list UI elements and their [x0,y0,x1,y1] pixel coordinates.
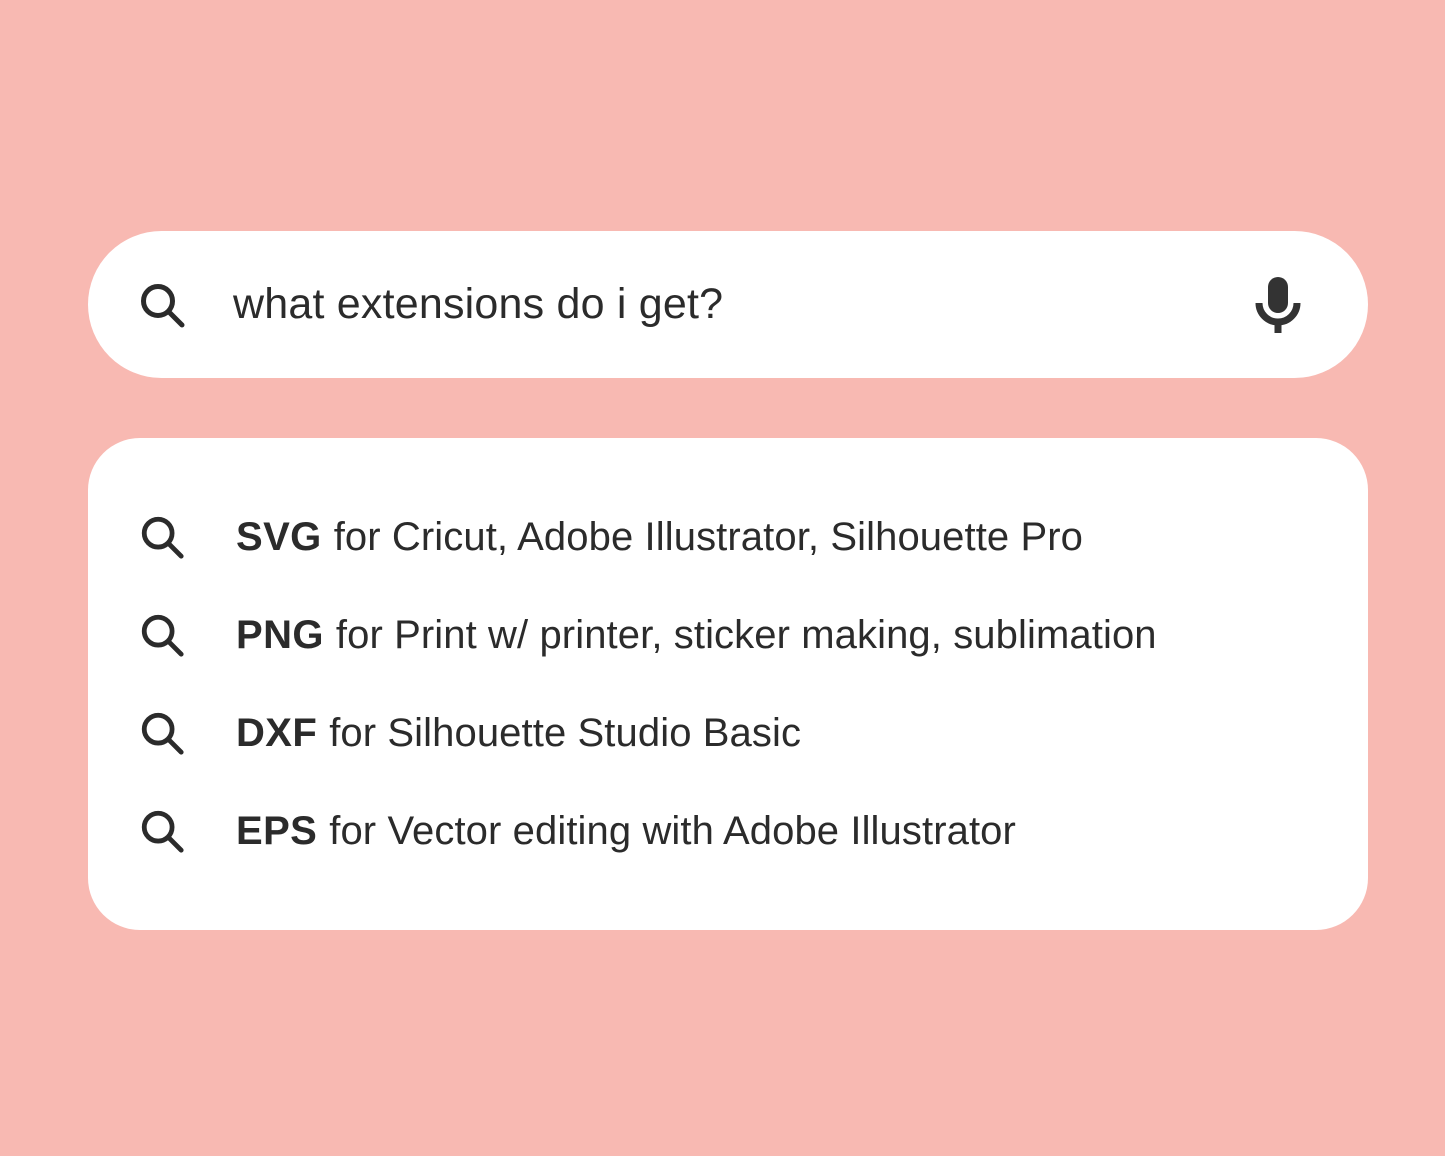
suggestion-extension: PNG [236,612,324,658]
suggestion-extension: DXF [236,710,317,756]
search-icon [136,609,188,661]
suggestion-item-svg[interactable]: SVG for Cricut, Adobe Illustrator, Silho… [88,488,1368,586]
search-bar[interactable]: what extensions do i get? [88,231,1368,378]
suggestion-item-eps[interactable]: EPS for Vector editing with Adobe Illust… [88,782,1368,880]
search-icon[interactable] [136,279,188,331]
suggestion-item-dxf[interactable]: DXF for Silhouette Studio Basic [88,684,1368,782]
suggestion-description: for Vector editing with Adobe Illustrato… [329,808,1016,854]
search-icon [136,511,188,563]
suggestion-description: for Print w/ printer, sticker making, su… [336,612,1157,658]
page-canvas: what extensions do i get? SVG for Cricut… [0,0,1445,1156]
suggestion-label: PNG for Print w/ printer, sticker making… [236,612,1157,658]
search-icon [136,805,188,857]
suggestion-extension: SVG [236,514,322,560]
suggestion-label: DXF for Silhouette Studio Basic [236,710,801,756]
suggestion-description: for Silhouette Studio Basic [329,710,801,756]
suggestion-item-png[interactable]: PNG for Print w/ printer, sticker making… [88,586,1368,684]
suggestion-description: for Cricut, Adobe Illustrator, Silhouett… [334,514,1083,560]
search-icon [136,707,188,759]
suggestions-card: SVG for Cricut, Adobe Illustrator, Silho… [88,438,1368,930]
suggestion-label: SVG for Cricut, Adobe Illustrator, Silho… [236,514,1083,560]
suggestion-label: EPS for Vector editing with Adobe Illust… [236,808,1016,854]
search-input[interactable]: what extensions do i get? [233,281,1250,328]
suggestion-extension: EPS [236,808,317,854]
microphone-icon[interactable] [1250,273,1306,337]
